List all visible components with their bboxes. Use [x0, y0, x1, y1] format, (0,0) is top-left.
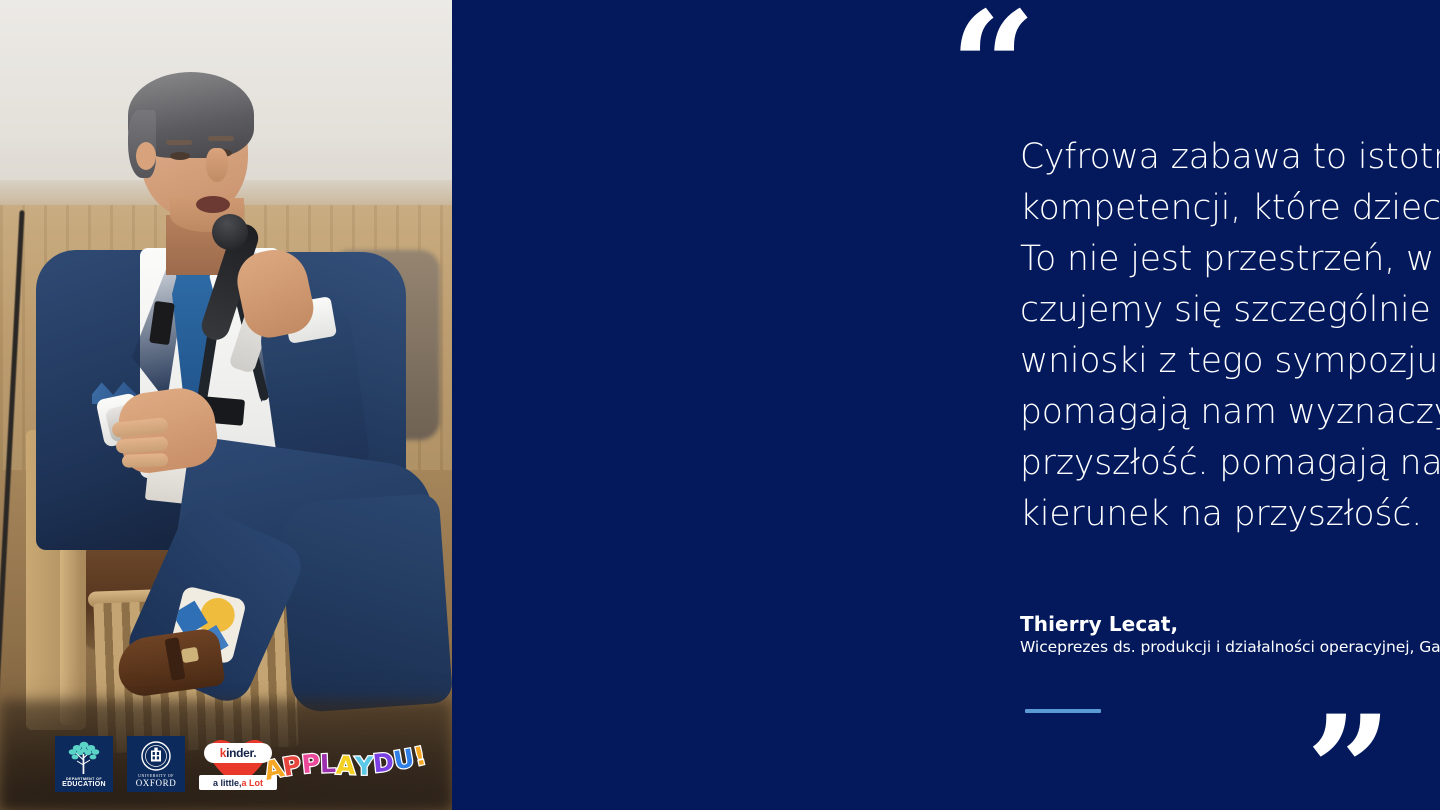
oxford-crest-icon [141, 741, 171, 771]
logo-bar: DEPARTMENT OF EDUCATION UNIVERSITY OF OX… [55, 736, 399, 792]
oxford-line2: OXFORD [136, 778, 177, 788]
photo-nose [206, 148, 228, 182]
logo-university-of-oxford: UNIVERSITY OF OXFORD [127, 736, 185, 792]
photo-finger-3 [122, 453, 168, 468]
photo-eye-left [170, 152, 190, 160]
kinder-tagline-1: a little, [213, 778, 242, 788]
attribution-name: Thierry Lecat, [1020, 612, 1440, 636]
logo-department-of-education: DEPARTMENT OF EDUCATION [55, 736, 113, 792]
attribution-role: Wiceprezes ds. produkcji i działalności … [1020, 638, 1440, 656]
applaydu-letter-6: Y [355, 753, 374, 778]
applaydu-letter-3: P [300, 750, 321, 777]
photo-brow-left [166, 140, 192, 145]
quote-open-mark: “ [950, 0, 1036, 142]
photo-ear [136, 142, 156, 170]
photo-mouth [196, 196, 230, 213]
logo-applaydu: APPLAYDU! [290, 738, 401, 789]
attribution: Thierry Lecat, Wiceprezes ds. produkcji … [1020, 612, 1440, 656]
doe-line2: EDUCATION [62, 781, 106, 788]
kinder-rest: inder. [226, 746, 256, 760]
kinder-tagline-2: a Lot [242, 778, 264, 788]
quote-text: Cyfrowa zabawa to istotny element zestaw… [1020, 132, 1440, 540]
accent-divider [1025, 709, 1101, 713]
tree-icon [64, 740, 104, 774]
quote-panel: “ Cyfrowa zabawa to istotny element zest… [452, 0, 1440, 810]
applaydu-letter-5: A [336, 752, 356, 778]
applaydu-letter-4: L [320, 750, 337, 776]
quote-close-mark: ” [1306, 696, 1392, 810]
speaker-photo: DEPARTMENT OF EDUCATION UNIVERSITY OF OX… [0, 0, 452, 810]
photo-brow-right [208, 136, 234, 141]
quote-card: DEPARTMENT OF EDUCATION UNIVERSITY OF OX… [0, 0, 1440, 810]
